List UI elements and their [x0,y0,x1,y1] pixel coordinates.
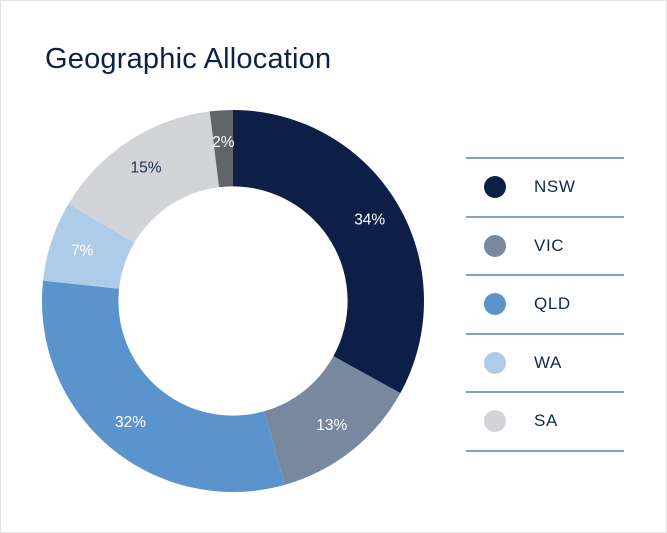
donut-slice-label-nsw: 34% [354,212,385,229]
legend-item-wa[interactable]: WA [466,333,624,392]
legend-item-label: SA [534,411,558,431]
legend-item-qld[interactable]: QLD [466,274,624,333]
legend-item-sa[interactable]: SA [466,391,624,452]
page-title: Geographic Allocation [45,39,331,79]
donut-slice-label-wa: 7% [71,243,94,260]
donut-slice-label-vic: 13% [316,417,347,434]
legend-swatch-wa-icon [484,352,506,374]
legend-swatch-vic-icon [484,235,506,257]
legend-item-label: WA [534,353,562,373]
legend-item-label: QLD [534,294,571,314]
donut-slice-nsw[interactable] [233,110,424,393]
donut-chart: 34%13%32%7%15%2% [42,110,424,492]
donut-slice-label-other: 2% [212,134,235,151]
donut-slice-label-qld: 32% [115,414,146,431]
legend-swatch-nsw-icon [484,176,506,198]
donut-chart-svg: 34%13%32%7%15%2% [42,110,424,492]
legend-swatch-qld-icon [484,293,506,315]
slide-canvas: Geographic Allocation 34%13%32%7%15%2% N… [0,0,667,533]
legend-item-label: VIC [534,236,564,256]
legend-item-vic[interactable]: VIC [466,216,624,275]
donut-slice-group [42,110,424,492]
donut-slice-qld[interactable] [42,281,285,492]
legend-item-label: NSW [534,177,575,197]
legend-item-nsw[interactable]: NSW [466,157,624,216]
donut-slice-label-sa: 15% [131,160,162,177]
legend-swatch-sa-icon [484,410,506,432]
chart-legend: NSWVICQLDWASA [466,157,624,452]
